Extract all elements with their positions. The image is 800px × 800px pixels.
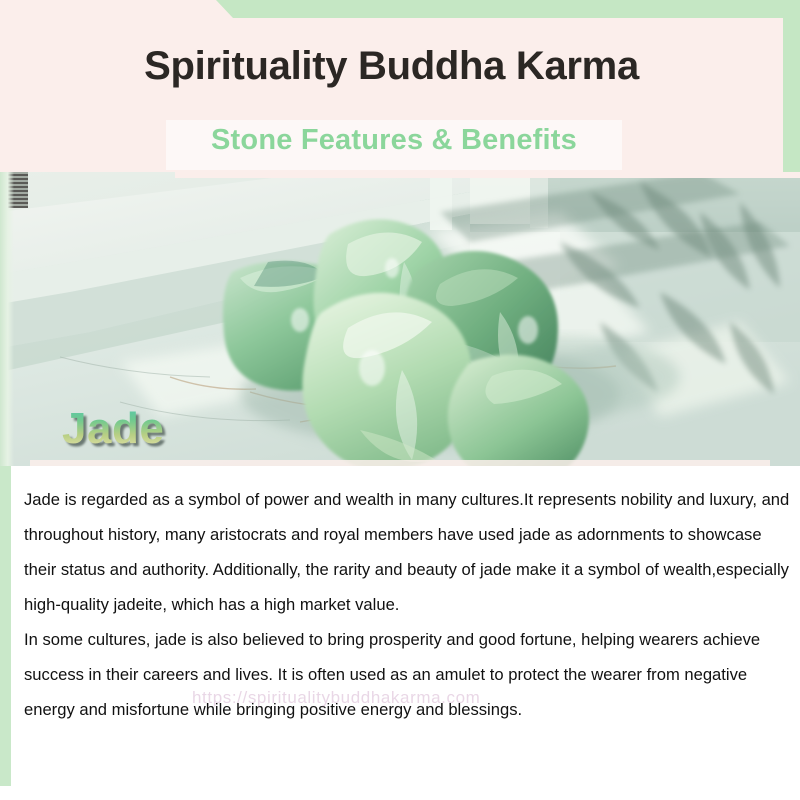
page-title: Spirituality Buddha Karma — [0, 44, 783, 89]
infographic-page: Spirituality Buddha Karma Stone Features… — [0, 0, 800, 800]
page-subtitle: Stone Features & Benefits — [166, 124, 622, 157]
photo-frame-top — [175, 172, 800, 178]
photo-edge-left — [0, 172, 14, 466]
header-banner: Spirituality Buddha Karma Stone Features… — [0, 0, 800, 175]
body-copy: Jade is regarded as a symbol of power an… — [24, 482, 794, 727]
photo-caption-jade: Jade — [62, 404, 164, 454]
body-paragraph-1: Jade is regarded as a symbol of power an… — [24, 482, 794, 622]
body-paragraph-2: In some cultures, jade is also believed … — [24, 622, 794, 727]
body-accent-strip — [0, 466, 11, 786]
body-text-panel: Jade is regarded as a symbol of power an… — [11, 466, 800, 800]
jade-stones-photo: Jade — [0, 172, 800, 466]
